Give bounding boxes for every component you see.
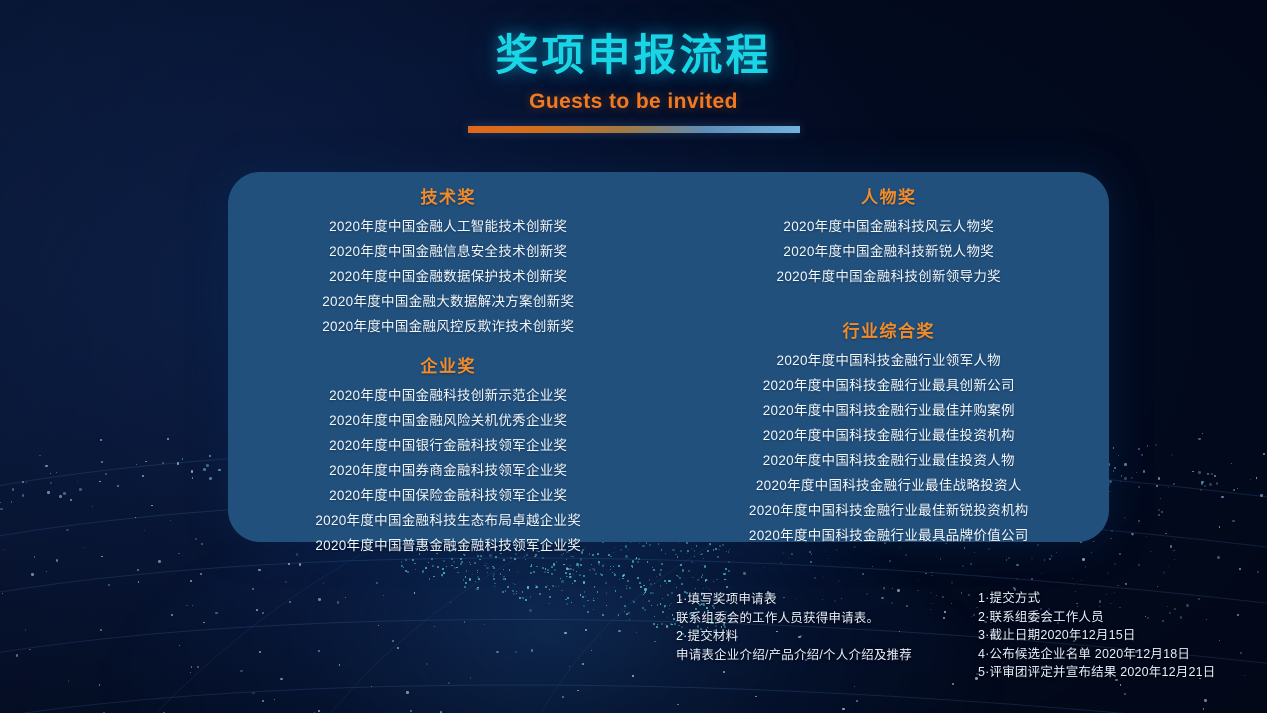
list-item: 2020年度中国银行金融科技领军企业奖 xyxy=(228,433,669,458)
note-line: 2·提交材料 xyxy=(676,627,912,646)
list-item: 2020年度中国金融人工智能技术创新奖 xyxy=(228,214,669,239)
list-item: 2020年度中国科技金融行业最具品牌价值公司 xyxy=(669,523,1110,548)
list-item: 2020年度中国金融风控反欺诈技术创新奖 xyxy=(228,314,669,339)
list-item: 2020年度中国科技金融行业最佳新锐投资机构 xyxy=(669,498,1110,523)
list-item: 2020年度中国普惠金融金融科技领军企业奖 xyxy=(228,533,669,558)
note-line: 1·提交方式 xyxy=(978,589,1216,608)
list-item: 2020年度中国科技金融行业最佳投资人物 xyxy=(669,448,1110,473)
section-heading-enterprise: 企业奖 xyxy=(228,352,669,377)
section-heading-industry: 行业综合奖 xyxy=(669,317,1110,342)
list-item: 2020年度中国金融科技创新示范企业奖 xyxy=(228,383,669,408)
note-line: 5·评审团评定并宣布结果 2020年12月21日 xyxy=(978,663,1216,682)
note-line: 4·公布候选企业名单 2020年12月18日 xyxy=(978,645,1216,664)
list-item: 2020年度中国金融科技生态布局卓越企业奖 xyxy=(228,508,669,533)
list-item: 2020年度中国券商金融科技领军企业奖 xyxy=(228,458,669,483)
note-block-application-steps: 1·填写奖项申请表 联系组委会的工作人员获得申请表。 2·提交材料 申请表企业介… xyxy=(676,590,912,664)
award-list-industry: 2020年度中国科技金融行业领军人物 2020年度中国科技金融行业最具创新公司 … xyxy=(669,348,1110,548)
page-title: 奖项申报流程 xyxy=(0,32,1267,81)
list-item: 2020年度中国金融科技风云人物奖 xyxy=(669,214,1110,239)
list-item: 2020年度中国金融大数据解决方案创新奖 xyxy=(228,289,669,314)
award-list-enterprise: 2020年度中国金融科技创新示范企业奖 2020年度中国金融风险关机优秀企业奖 … xyxy=(228,383,669,558)
title-block: 奖项申报流程 Guests to be invited xyxy=(0,32,1267,133)
note-line: 1·填写奖项申请表 xyxy=(676,590,912,609)
section-heading-technology: 技术奖 xyxy=(228,183,669,208)
list-item: 2020年度中国保险金融科技领军企业奖 xyxy=(228,483,669,508)
list-item: 2020年度中国金融信息安全技术创新奖 xyxy=(228,239,669,264)
list-item: 2020年度中国科技金融行业领军人物 xyxy=(669,348,1110,373)
note-line: 申请表企业介绍/产品介绍/个人介绍及推荐 xyxy=(676,646,912,665)
note-line: 联系组委会的工作人员获得申请表。 xyxy=(676,609,912,628)
list-item: 2020年度中国科技金融行业最佳投资机构 xyxy=(669,423,1110,448)
page-subtitle: Guests to be invited xyxy=(0,90,1267,114)
list-item: 2020年度中国金融科技创新领导力奖 xyxy=(669,264,1110,289)
list-item: 2020年度中国科技金融行业最佳并购案例 xyxy=(669,398,1110,423)
list-item: 2020年度中国金融风险关机优秀企业奖 xyxy=(228,408,669,433)
award-list-technology: 2020年度中国金融人工智能技术创新奖 2020年度中国金融信息安全技术创新奖 … xyxy=(228,214,669,339)
list-item: 2020年度中国科技金融行业最佳战略投资人 xyxy=(669,473,1110,498)
awards-column-left: 技术奖 2020年度中国金融人工智能技术创新奖 2020年度中国金融信息安全技术… xyxy=(228,172,669,542)
list-item: 2020年度中国金融科技新锐人物奖 xyxy=(669,239,1110,264)
note-line: 3·截止日期2020年12月15日 xyxy=(978,626,1216,645)
list-item: 2020年度中国金融数据保护技术创新奖 xyxy=(228,264,669,289)
award-list-person: 2020年度中国金融科技风云人物奖 2020年度中国金融科技新锐人物奖 2020… xyxy=(669,214,1110,289)
title-accent-bar xyxy=(468,126,800,133)
awards-column-right: 人物奖 2020年度中国金融科技风云人物奖 2020年度中国金融科技新锐人物奖 … xyxy=(669,172,1110,542)
note-line: 2·联系组委会工作人员 xyxy=(978,608,1216,627)
slide-root: 奖项申报流程 Guests to be invited 技术奖 2020年度中国… xyxy=(0,0,1267,713)
section-heading-person: 人物奖 xyxy=(669,183,1110,208)
awards-panel: 技术奖 2020年度中国金融人工智能技术创新奖 2020年度中国金融信息安全技术… xyxy=(228,172,1109,542)
list-item: 2020年度中国科技金融行业最具创新公司 xyxy=(669,373,1110,398)
note-block-schedule: 1·提交方式 2·联系组委会工作人员 3·截止日期2020年12月15日 4·公… xyxy=(978,589,1216,682)
